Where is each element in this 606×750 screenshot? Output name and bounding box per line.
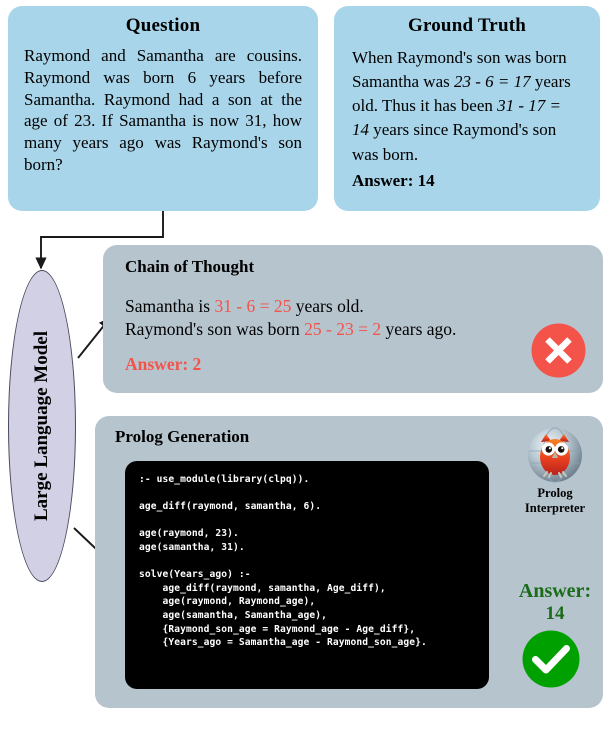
cot-answer: Answer: 2 xyxy=(125,354,581,375)
cot-line-2: Raymond's son was born 25 - 23 = 2 years… xyxy=(125,318,581,341)
gt-answer-label: Answer: xyxy=(352,171,413,190)
prolog-generation-panel: Prolog Generation :- use_module(library(… xyxy=(95,416,603,708)
question-title: Question xyxy=(24,15,302,37)
question-card: Question Raymond and Samantha are cousin… xyxy=(8,6,318,211)
question-body: Raymond and Samantha are cousins. Raymon… xyxy=(24,45,302,176)
large-language-model-node: Large Language Model xyxy=(8,270,76,582)
gt-answer-value: 14 xyxy=(418,171,435,190)
gt-text-3: years since Raymond's son was born. xyxy=(352,120,556,163)
prolog-interpreter-label: Prolog Interpreter xyxy=(499,486,606,517)
cross-circle-icon xyxy=(531,323,586,378)
cot-line-1: Samantha is 31 - 6 = 25 years old. xyxy=(125,295,581,318)
ground-truth-card: Ground Truth When Raymond's son was born… xyxy=(334,6,600,211)
cot-line-2-text-post: years ago. xyxy=(381,319,456,339)
cot-line-1-text-pre: Samantha is xyxy=(125,296,214,316)
ground-truth-answer: Answer: 14 xyxy=(352,169,582,193)
check-circle-icon xyxy=(522,630,580,688)
cot-line-1-expression: 31 - 6 = 25 xyxy=(214,296,291,316)
ground-truth-body: When Raymond's son was born Samantha was… xyxy=(352,46,582,167)
chain-of-thought-panel: Chain of Thought Samantha is 31 - 6 = 25… xyxy=(103,245,603,393)
prolog-generation-title: Prolog Generation xyxy=(115,427,583,447)
cot-line-2-expression: 25 - 23 = 2 xyxy=(304,319,381,339)
interpreter-label-line-1: Prolog xyxy=(499,486,606,501)
llm-label: Large Language Model xyxy=(31,331,53,521)
cot-line-2-text-pre: Raymond's son was born xyxy=(125,319,304,339)
cot-line-1-text-post: years old. xyxy=(291,296,363,316)
prolog-owl-icon xyxy=(527,427,583,483)
prolog-answer: Answer: 14 xyxy=(493,579,606,626)
gt-expression-1: 23 - 6 = 17 xyxy=(454,72,531,91)
prolog-answer-value: 14 xyxy=(493,603,606,626)
interpreter-label-line-2: Interpreter xyxy=(499,501,606,516)
prolog-answer-label: Answer: xyxy=(493,579,606,603)
chain-of-thought-title: Chain of Thought xyxy=(125,257,581,277)
prolog-code-block: :- use_module(library(clpq)). age_diff(r… xyxy=(125,461,489,689)
ground-truth-title: Ground Truth xyxy=(352,15,582,37)
